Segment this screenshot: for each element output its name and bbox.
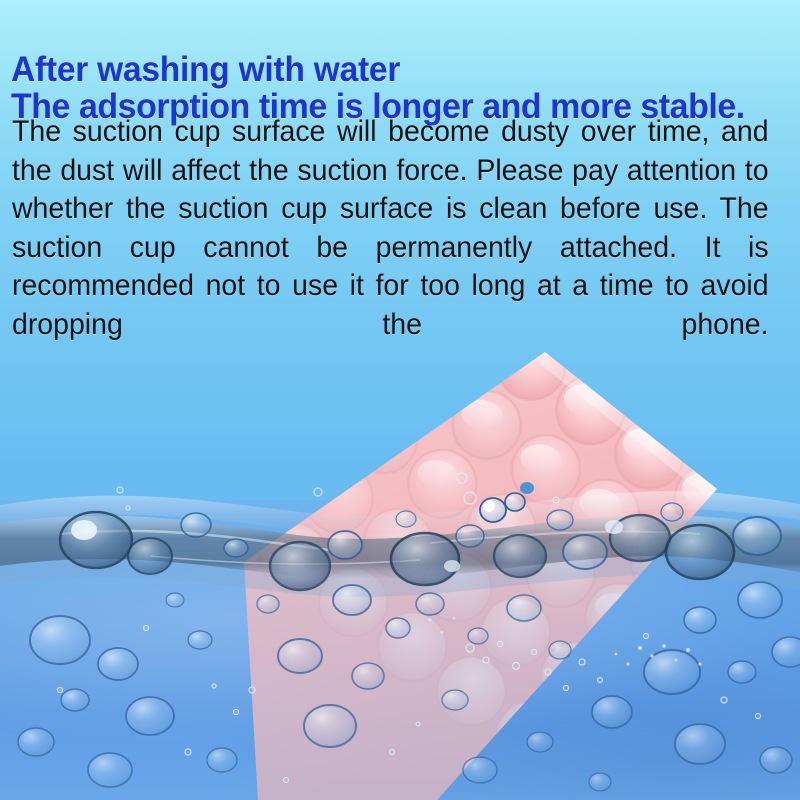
- headline-line-1: After washing with water: [11, 50, 400, 89]
- body-paragraph: The suction cup surface will become dust…: [12, 113, 769, 383]
- product-infographic-poster: After washing with water The adsorption …: [0, 0, 800, 800]
- bubble-cluster-openwater: [18, 582, 800, 791]
- water-droplet-on-product: [480, 482, 534, 522]
- bubble-cluster-product: [257, 585, 571, 747]
- bubble-cluster-surface: [60, 503, 781, 590]
